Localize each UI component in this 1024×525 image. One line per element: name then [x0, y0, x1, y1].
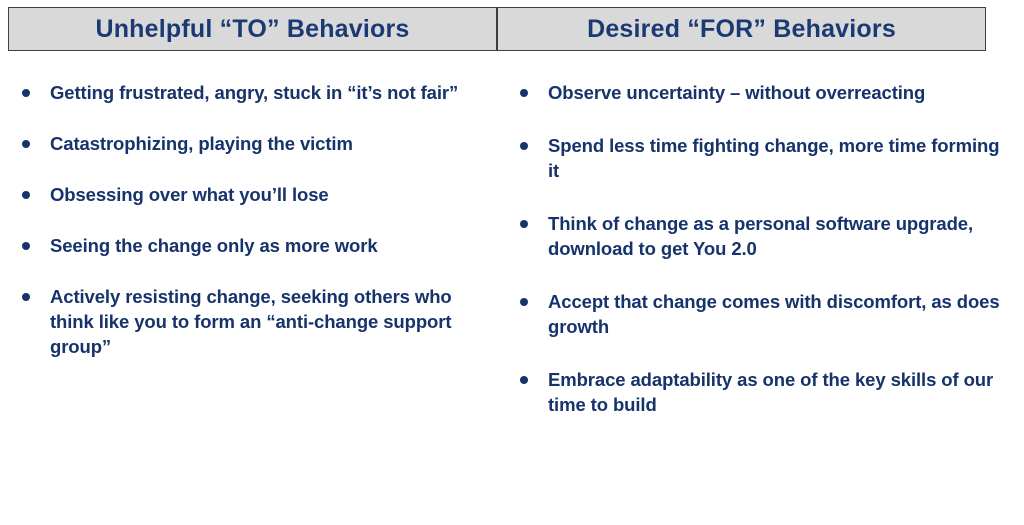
bullet-dot-icon [520, 89, 528, 97]
header-cell-unhelpful-to-behaviors: Unhelpful “TO” Behaviors [8, 7, 497, 51]
column-unhelpful-to-behaviors: Getting frustrated, angry, stuck in “it’… [0, 62, 500, 525]
list-item-text: Obsessing over what you’ll lose [50, 184, 329, 205]
bullet-dot-icon [22, 140, 30, 148]
list-item-text: Accept that change comes with discomfort… [548, 291, 1000, 337]
list-item: Spend less time fighting change, more ti… [508, 133, 1004, 183]
list-item-text: Seeing the change only as more work [50, 235, 378, 256]
bullet-list-unhelpful-to-behaviors: Getting frustrated, angry, stuck in “it’… [12, 80, 482, 359]
bullet-dot-icon [22, 293, 30, 301]
bullet-dot-icon [22, 89, 30, 97]
list-item-text: Embrace adaptability as one of the key s… [548, 369, 993, 415]
bullet-dot-icon [520, 142, 528, 150]
list-item-text: Actively resisting change, seeking other… [50, 286, 452, 357]
header-title-desired-for-behaviors: Desired “FOR” Behaviors [587, 17, 896, 42]
list-item-text: Catastrophizing, playing the victim [50, 133, 353, 154]
list-item: Seeing the change only as more work [12, 233, 482, 258]
list-item-text: Observe uncertainty – without overreacti… [548, 82, 925, 103]
list-item: Observe uncertainty – without overreacti… [508, 80, 1004, 105]
table-header-row: Unhelpful “TO” Behaviors Desired “FOR” B… [8, 7, 986, 51]
bullet-list-desired-for-behaviors: Observe uncertainty – without overreacti… [508, 80, 1004, 417]
header-title-unhelpful-to-behaviors: Unhelpful “TO” Behaviors [95, 17, 409, 42]
behaviors-comparison-slide: Unhelpful “TO” Behaviors Desired “FOR” B… [0, 0, 1024, 525]
list-item: Think of change as a personal software u… [508, 211, 1004, 261]
bullet-dot-icon [22, 191, 30, 199]
list-item-text: Getting frustrated, angry, stuck in “it’… [50, 82, 458, 103]
list-item-text: Think of change as a personal software u… [548, 213, 973, 259]
header-cell-desired-for-behaviors: Desired “FOR” Behaviors [497, 7, 986, 51]
list-item-text: Spend less time fighting change, more ti… [548, 135, 999, 181]
bullet-dot-icon [520, 376, 528, 384]
table-body: Getting frustrated, angry, stuck in “it’… [0, 62, 1024, 525]
bullet-dot-icon [520, 220, 528, 228]
list-item: Catastrophizing, playing the victim [12, 131, 482, 156]
bullet-dot-icon [520, 298, 528, 306]
list-item: Accept that change comes with discomfort… [508, 289, 1004, 339]
list-item: Obsessing over what you’ll lose [12, 182, 482, 207]
column-desired-for-behaviors: Observe uncertainty – without overreacti… [500, 62, 1024, 525]
bullet-dot-icon [22, 242, 30, 250]
list-item: Getting frustrated, angry, stuck in “it’… [12, 80, 482, 105]
list-item: Actively resisting change, seeking other… [12, 284, 482, 359]
list-item: Embrace adaptability as one of the key s… [508, 367, 1004, 417]
